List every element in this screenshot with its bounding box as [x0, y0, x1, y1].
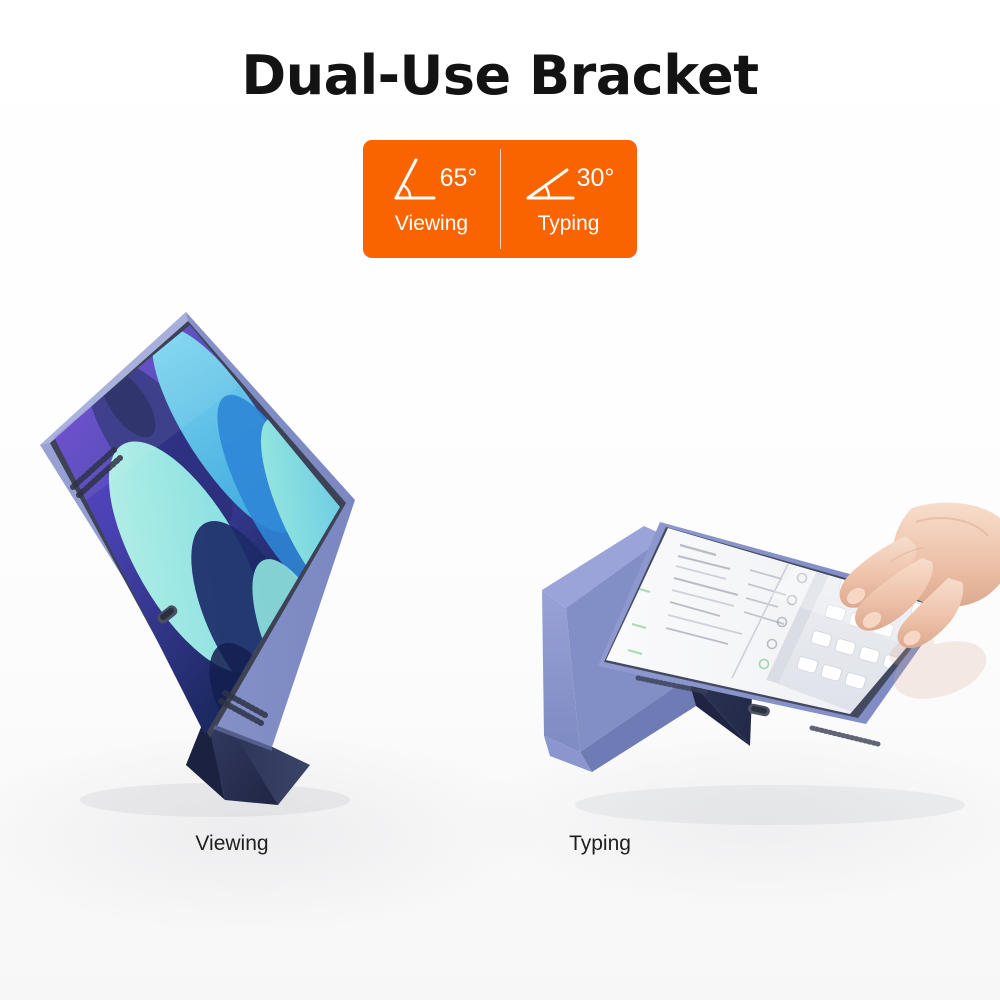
shadow	[575, 785, 965, 825]
page-title: Dual-Use Bracket	[0, 44, 1000, 107]
badge-mode-viewing: 65° Viewing	[363, 140, 500, 258]
badge-mode-label: Typing	[538, 213, 600, 234]
badge-mode-label: Viewing	[395, 213, 468, 234]
tablet-body	[30, 305, 378, 765]
tablet-typing-mode	[520, 500, 1000, 840]
badge-angle-value: 30°	[577, 154, 615, 191]
angle-65-icon	[386, 154, 438, 204]
tablet-viewing-mode	[10, 295, 410, 825]
caption-typing: Typing	[480, 832, 720, 856]
dual-mode-badge: 65° Viewing 30° Typing	[363, 140, 637, 258]
badge-mode-typing: 30° Typing	[500, 140, 637, 258]
caption-viewing: Viewing	[112, 832, 352, 856]
badge-angle-value: 65°	[440, 154, 478, 191]
angle-30-icon	[523, 154, 575, 204]
